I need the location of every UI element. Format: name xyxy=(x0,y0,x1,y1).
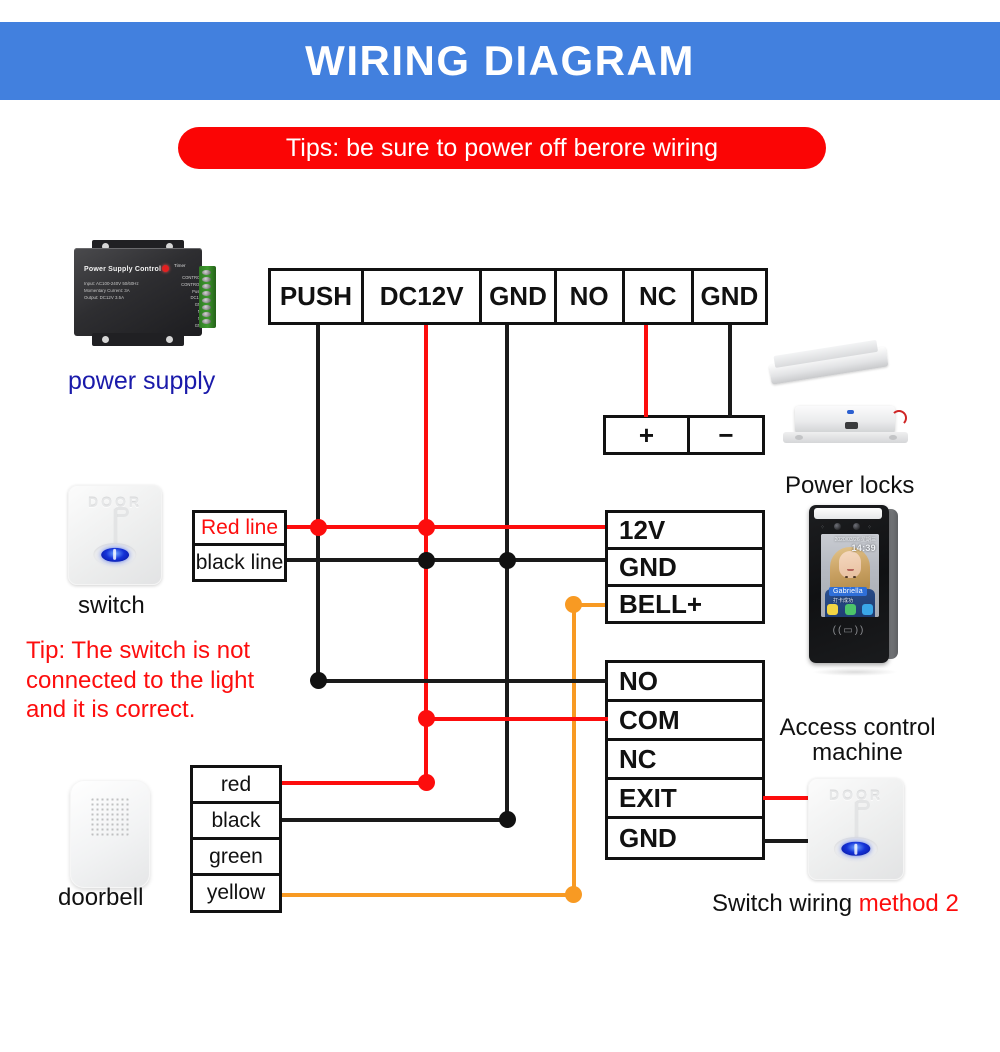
doorbell-image xyxy=(70,780,150,888)
junction-dot-black-doorbell xyxy=(499,811,516,828)
method-2-label: method 2 xyxy=(859,890,959,917)
wiring-diagram-page: WIRING DIAGRAM Tips: be sure to power of… xyxy=(0,0,1000,1052)
switch-right-oval-recess xyxy=(834,837,878,860)
wire-no-lower-feed xyxy=(316,679,608,683)
switch-wire-label-stack: Red line black line xyxy=(192,510,287,582)
power-locks-caption: Power locks xyxy=(785,472,914,500)
acm-camera-left-icon xyxy=(834,523,841,530)
switch-right-key-shaft-icon xyxy=(855,802,858,841)
tips-text: Tips: be sure to power off berore wiring xyxy=(286,134,718,163)
acm-app-icon-3[interactable] xyxy=(862,604,873,615)
acm-name-badge: Gabriella xyxy=(829,587,867,596)
tips-badge: Tips: be sure to power off berore wiring xyxy=(178,127,826,169)
terminal-bell-plus[interactable]: BELL+ xyxy=(608,587,762,621)
switch-oval-recess xyxy=(93,543,136,566)
doorbell-caption: doorbell xyxy=(58,884,143,912)
door-switch-right-image: DOOR xyxy=(808,778,904,880)
terminal-com[interactable]: COM xyxy=(608,702,762,741)
junction-dot-red-doorbell xyxy=(418,774,435,791)
header-banner: WIRING DIAGRAM xyxy=(0,22,1000,100)
wire-redline-horizontal xyxy=(287,525,607,529)
acm-display-screen[interactable]: 2020/03/26 星期三 14:39 Gabriella 打卡成功 xyxy=(821,534,879,617)
terminal-12v[interactable]: 12V xyxy=(608,513,762,550)
access-control-caption-line2: machine xyxy=(760,740,955,765)
tip-note-line-1: Tip: The switch is not xyxy=(26,636,356,666)
junction-dot-orange-bell xyxy=(565,596,582,613)
acm-ir-emitter-right-icon: ⁘ xyxy=(867,524,873,531)
acm-ir-emitter-left-icon: ⁘ xyxy=(820,524,826,531)
access-control-caption: Access control machine xyxy=(760,715,955,765)
acm-user-mouth xyxy=(847,569,854,571)
top-terminal-strip: PUSH DC12V GND NO NC GND xyxy=(268,268,768,325)
door-switch-left-image: DOOR xyxy=(68,485,162,585)
acm-front-panel: ⁘ ⁘ 2020/03/26 星期三 14:39 Gabriella 打卡成功 xyxy=(809,505,889,663)
acm-time: 14:39 xyxy=(835,543,876,554)
tip-note-line-3: and it is correct. xyxy=(26,695,356,725)
junction-dot-black-no xyxy=(310,672,327,689)
lock-terminal-negative[interactable]: − xyxy=(690,418,762,452)
wire-doorbell-yellow-horizontal xyxy=(282,893,576,897)
wire-exit-to-switch xyxy=(763,796,811,800)
junction-dot-black-gnd xyxy=(499,552,516,569)
junction-dot-red-com xyxy=(418,710,435,727)
label-black-line[interactable]: black line xyxy=(195,546,284,579)
power-lock-wire-icon xyxy=(891,410,907,426)
power-supply-module-image: Power Supply Control Input: AC100-240V 5… xyxy=(68,238,223,348)
switch-key-shaft-icon xyxy=(114,509,117,547)
tip-note-line-2: connected to the light xyxy=(26,666,356,696)
label-doorbell-green[interactable]: green xyxy=(193,840,279,876)
power-lock-secondary-image xyxy=(767,335,898,399)
terminal-push[interactable]: PUSH xyxy=(271,271,364,322)
power-lock-terminal: + − xyxy=(603,415,765,455)
power-lock-main-image xyxy=(783,404,915,450)
terminal-dc12v[interactable]: DC12V xyxy=(364,271,483,322)
psu-timer-label: Timer xyxy=(174,263,186,268)
label-doorbell-red[interactable]: red xyxy=(193,768,279,804)
switch-right-caption: Switch wiring method 2 xyxy=(712,890,959,918)
page-title: WIRING DIAGRAM xyxy=(305,37,695,85)
acm-user-face xyxy=(839,551,861,578)
doorbell-wire-label-stack: red black green yellow xyxy=(190,765,282,913)
terminal-gnd-upper[interactable]: GND xyxy=(608,550,762,587)
access-terminal-lower: NO COM NC EXIT GND xyxy=(605,660,765,860)
switch-left-caption: switch xyxy=(78,592,145,620)
psu-spec-label: Input: AC100-240V 50/60Hz Momentary Curr… xyxy=(84,281,139,301)
wire-gnd-to-switch xyxy=(763,839,811,843)
access-terminal-upper: 12V GND BELL+ xyxy=(605,510,765,624)
acm-camera-right-icon xyxy=(853,523,860,530)
psu-led-indicator xyxy=(162,265,169,272)
switch-right-led-indicator xyxy=(841,842,870,857)
acm-fill-light xyxy=(814,508,882,519)
terminal-nc-lower[interactable]: NC xyxy=(608,741,762,780)
psu-mount-tab-bottom xyxy=(92,333,184,346)
switch-led-indicator xyxy=(101,547,130,561)
acm-card-reader-icon: ((▭)) xyxy=(809,625,889,636)
junction-dot-black-dc12v-gnd xyxy=(418,552,435,569)
acm-app-icon-1[interactable] xyxy=(827,604,838,615)
wire-nc-to-lock-positive xyxy=(644,325,648,417)
wire-blackline-horizontal xyxy=(287,558,607,562)
wire-gnd-vertical xyxy=(505,325,509,822)
psu-terminal-block xyxy=(199,266,216,328)
terminal-exit[interactable]: EXIT xyxy=(608,780,762,819)
switch-wiring-label: Switch wiring xyxy=(712,890,852,917)
wire-gnd2-to-lock-negative xyxy=(728,325,732,417)
label-red-line[interactable]: Red line xyxy=(195,513,284,546)
acm-datetime: 2020/03/26 星期三 14:39 xyxy=(835,537,876,555)
junction-dot-red-push-12v xyxy=(310,519,327,536)
wire-bell-vertical xyxy=(572,605,576,897)
access-control-caption-line1: Access control xyxy=(760,715,955,740)
terminal-no[interactable]: NO xyxy=(557,271,625,322)
doorbell-speaker-grill-icon xyxy=(90,797,130,837)
junction-dot-red-dc12v-12v xyxy=(418,519,435,536)
access-control-machine-image: ⁘ ⁘ 2020/03/26 星期三 14:39 Gabriella 打卡成功 xyxy=(805,505,901,665)
label-doorbell-black[interactable]: black xyxy=(193,804,279,840)
terminal-no-lower[interactable]: NO xyxy=(608,663,762,702)
terminal-nc[interactable]: NC xyxy=(625,271,694,322)
terminal-gnd-1[interactable]: GND xyxy=(482,271,556,322)
acm-app-row xyxy=(821,604,879,615)
acm-app-icon-2[interactable] xyxy=(845,604,856,615)
doorbell-logo xyxy=(109,856,112,862)
wire-doorbell-red-horizontal xyxy=(282,781,428,785)
power-supply-caption: power supply xyxy=(68,367,215,396)
psu-body: Power Supply Control Input: AC100-240V 5… xyxy=(74,248,202,336)
junction-dot-orange-yellow xyxy=(565,886,582,903)
wire-doorbell-black-horizontal xyxy=(282,818,509,822)
wire-com-feed xyxy=(424,717,608,721)
terminal-gnd-lower[interactable]: GND xyxy=(608,819,762,857)
terminal-gnd-2[interactable]: GND xyxy=(694,271,765,322)
lock-terminal-positive[interactable]: + xyxy=(606,418,690,452)
label-doorbell-yellow[interactable]: yellow xyxy=(193,876,279,910)
tip-note: Tip: The switch is not connected to the … xyxy=(26,636,356,725)
acm-status-text: 打卡成功 xyxy=(833,597,853,604)
acm-shadow xyxy=(812,668,898,676)
psu-brand-label: Power Supply Control xyxy=(84,266,161,273)
